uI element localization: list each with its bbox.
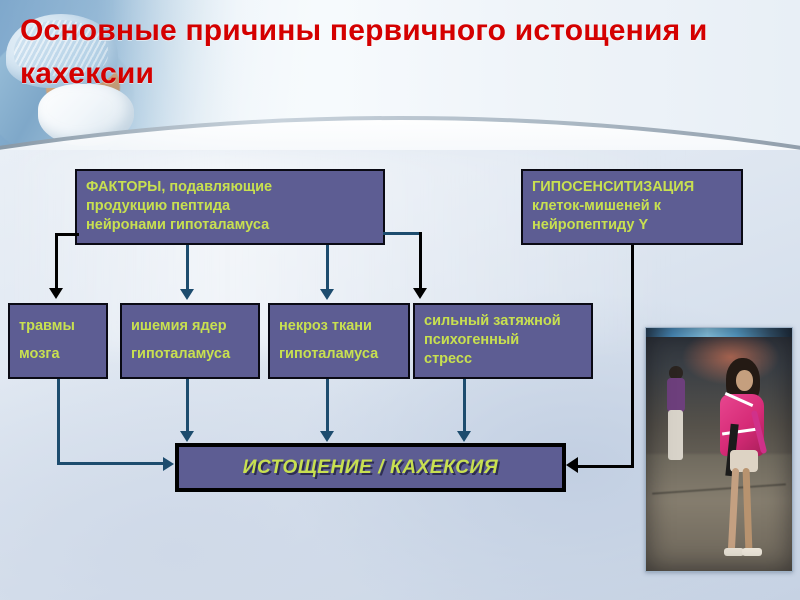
arrowhead-to-ischemia — [180, 289, 194, 300]
outcome-label: ИСТОЩЕНИЕ / КАХЕКСИЯ — [243, 457, 499, 479]
box-factors[interactable]: ФАКТОРЫ, подавляющие продукцию пептида н… — [75, 169, 385, 245]
header-arc-divider — [0, 96, 800, 150]
arrowhead-outcome-top-3 — [457, 431, 471, 442]
arrowhead-to-trauma — [49, 288, 63, 299]
connector-factors-to-trauma-h — [55, 233, 79, 236]
connector-factors-to-stress-v — [419, 232, 422, 288]
connector-hyposensitization-to-outcome-h — [578, 465, 634, 468]
connector-factors-to-trauma-v — [55, 233, 58, 288]
box-psychogenic-stress[interactable]: сильный затяжной психогенный стресс — [413, 303, 593, 379]
runway-model-photo — [645, 327, 793, 572]
box-tissue-necrosis[interactable]: некроз ткани гипоталамуса — [268, 303, 410, 379]
slide: Основные причины первичного истощения и … — [0, 0, 800, 600]
connector-necrosis-to-outcome — [326, 379, 329, 431]
connector-factors-to-stress-h — [383, 232, 422, 235]
connector-stress-to-outcome — [463, 379, 466, 431]
arrowhead-outcome-left — [163, 457, 174, 471]
box-outcome[interactable]: ИСТОЩЕНИЕ / КАХЕКСИЯ — [175, 443, 566, 492]
box-brain-trauma[interactable]: травмы мозга — [8, 303, 108, 379]
box-nuclei-ischemia[interactable]: ишемия ядер гипоталамуса — [120, 303, 260, 379]
arrowhead-outcome-top-2 — [320, 431, 334, 442]
arrowhead-to-stress — [413, 288, 427, 299]
connector-trauma-to-outcome-v — [57, 379, 60, 464]
connector-trauma-to-outcome-h — [57, 462, 164, 465]
arrowhead-to-necrosis — [320, 289, 334, 300]
box-hyposensitization[interactable]: ГИПОСЕНСИТИЗАЦИЯ клеток-мишеней к нейроп… — [521, 169, 743, 245]
arrowhead-outcome-top-1 — [180, 431, 194, 442]
connector-hyposensitization-to-outcome-v — [631, 245, 634, 468]
photo-vignette — [646, 328, 792, 571]
page-title: Основные причины первичного истощения и … — [20, 10, 720, 95]
connector-factors-to-ischemia — [186, 245, 189, 289]
connector-factors-to-necrosis — [326, 245, 329, 289]
connector-ischemia-to-outcome — [186, 379, 189, 431]
arrowhead-outcome-right — [566, 457, 578, 473]
